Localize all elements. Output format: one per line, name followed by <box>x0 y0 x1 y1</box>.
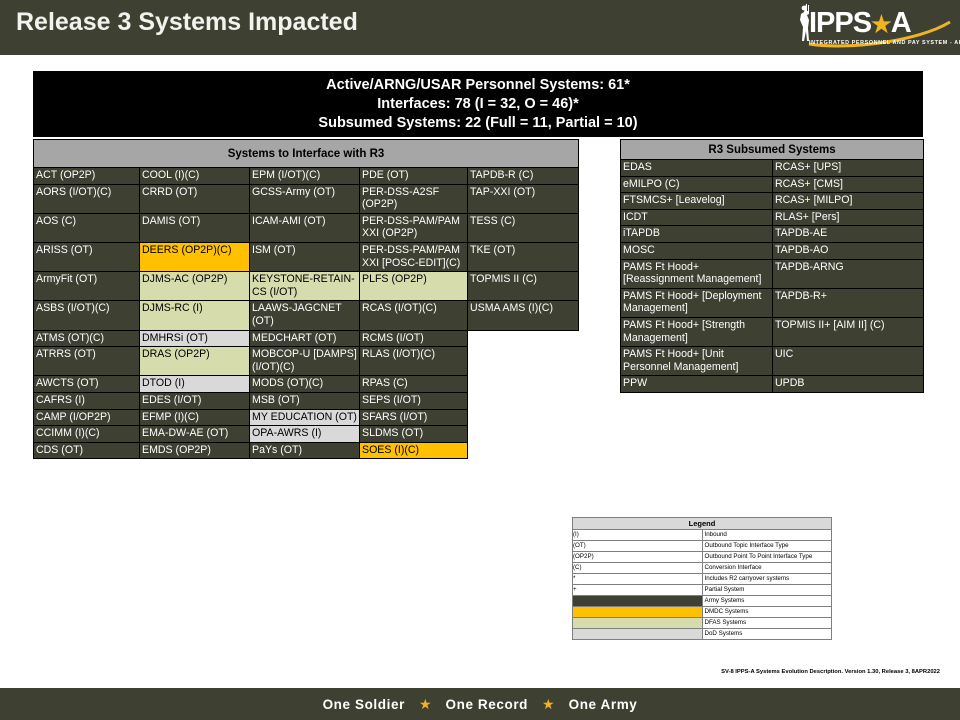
legend-description: Includes R2 carryover systems <box>702 574 832 585</box>
table-cell-system: PER-DSS-A2SF (OP2P) <box>360 184 468 213</box>
summary-line-1: Active/ARNG/USAR Personnel Systems: 61* <box>326 76 630 95</box>
table-row: AWCTS (OT)DTOD (I)MODS (OT)(C)RPAS (C) <box>34 376 579 393</box>
table-cell-system: LAAWS-JAGCNET (OT) <box>250 301 360 330</box>
table-row: EDASRCAS+ [UPS] <box>621 160 924 177</box>
legend-key: (OP2P) <box>573 552 703 563</box>
table-cell-empty <box>468 426 579 443</box>
table-cell-system: AOS (C) <box>34 213 140 242</box>
summary-line-2: Interfaces: 78 (I = 32, O = 46)* <box>377 95 579 114</box>
table-row: CAFRS (I)EDES (I/OT)MSB (OT)SEPS (I/OT) <box>34 392 579 409</box>
table-row: ATRRS (OT)DRAS (OP2P)MOBCOP-U [DAMPS] (I… <box>34 347 579 376</box>
table-cell-subsumed-system: TAPDB-AE <box>773 226 924 243</box>
table-cell-system: COOL (I)(C) <box>140 168 250 185</box>
legend-description: Outbound Topic Interface Type <box>702 541 832 552</box>
table-cell-subsumed-system: UPDB <box>773 376 924 393</box>
ipps-a-logo: IPPS★A INTEGRATED PERSONNEL AND PAY SYST… <box>787 4 952 52</box>
table-row: ICDTRLAS+ [Pers] <box>621 209 924 226</box>
table-cell-system: AORS (I/OT)(C) <box>34 184 140 213</box>
legend-description: DoD Systems <box>702 629 832 640</box>
table-cell-empty <box>468 409 579 426</box>
table-row: PAMS Ft Hood+ [Deployment Management]TAP… <box>621 288 924 317</box>
legend-row: *Includes R2 carryover systems <box>573 574 832 585</box>
table-row: ARISS (OT)DEERS (OP2P)(C)ISM (OT)PER-DSS… <box>34 242 579 271</box>
star-icon: ★ <box>419 696 432 713</box>
table-cell-system: PLFS (OP2P) <box>360 272 468 301</box>
table-cell-system: MEDCHART (OT) <box>250 330 360 347</box>
legend-row: DMDC Systems <box>573 607 832 618</box>
table-cell-system: SEPS (I/OT) <box>360 392 468 409</box>
table-cell-subsumed-system: TAPDB-ARNG <box>773 259 924 288</box>
table-cell-system: SOES (I)(C) <box>360 442 468 459</box>
star-icon: ★ <box>542 696 555 713</box>
logo-star-icon: ★ <box>871 11 891 37</box>
table-cell-subsumed-system: TAPDB-AO <box>773 242 924 259</box>
summary-line-3: Subsumed Systems: 22 (Full = 11, Partial… <box>318 114 637 133</box>
table-row: PAMS Ft Hood+ [Reassignment Management]T… <box>621 259 924 288</box>
legend-row: +Partial System <box>573 585 832 596</box>
right-table-heading: R3 Subsumed Systems <box>621 140 924 160</box>
table-cell-system: ArmyFit (OT) <box>34 272 140 301</box>
table-row: CCIMM (I)(C)EMA-DW-AE (OT)OPA-AWRS (I)SL… <box>34 426 579 443</box>
table-cell-system: EPM (I/OT)(C) <box>250 168 360 185</box>
legend-key: (OT) <box>573 541 703 552</box>
legend-header-row: Legend <box>573 518 832 530</box>
table-row: FTSMCS+ [Leavelog]RCAS+ [MILPO] <box>621 193 924 210</box>
systems-to-interface-table: Systems to Interface with R3 ACT (OP2P)C… <box>33 139 579 459</box>
table-cell-subsumed-system: PAMS Ft Hood+ [Deployment Management] <box>621 288 773 317</box>
table-cell-system: EFMP (I)(C) <box>140 409 250 426</box>
table-row: MOSCTAPDB-AO <box>621 242 924 259</box>
table-cell-system: MSB (OT) <box>250 392 360 409</box>
table-cell-system: ATRRS (OT) <box>34 347 140 376</box>
legend-key: (I) <box>573 530 703 541</box>
table-cell-subsumed-system: RCAS+ [MILPO] <box>773 193 924 210</box>
table-cell-system: CCIMM (I)(C) <box>34 426 140 443</box>
legend-key: (C) <box>573 563 703 574</box>
table-cell-subsumed-system: UIC <box>773 347 924 376</box>
table-cell-subsumed-system: PPW <box>621 376 773 393</box>
table-row: CDS (OT)EMDS (OP2P)PaYs (OT)SOES (I)(C) <box>34 442 579 459</box>
table-cell-system: DAMIS (OT) <box>140 213 250 242</box>
table-cell-system: SLDMS (OT) <box>360 426 468 443</box>
table-cell-system: ATMS (OT)(C) <box>34 330 140 347</box>
table-cell-subsumed-system: RLAS+ [Pers] <box>773 209 924 226</box>
table-cell-system: DRAS (OP2P) <box>140 347 250 376</box>
table-cell-system: ISM (OT) <box>250 242 360 271</box>
table-row: ACT (OP2P)COOL (I)(C)EPM (I/OT)(C)PDE (O… <box>34 168 579 185</box>
table-cell-subsumed-system: iTAPDB <box>621 226 773 243</box>
table-cell-system: DJMS-AC (OP2P) <box>140 272 250 301</box>
table-header-row: Systems to Interface with R3 <box>34 140 579 168</box>
table-row: PAMS Ft Hood+ [Strength Management]TOPMI… <box>621 317 924 346</box>
table-cell-system: TAPDB-R (C) <box>468 168 579 185</box>
table-row: PPWUPDB <box>621 376 924 393</box>
legend-description: Army Systems <box>702 596 832 607</box>
left-table-heading: Systems to Interface with R3 <box>34 140 579 168</box>
table-cell-system: TESS (C) <box>468 213 579 242</box>
legend-title: Legend <box>573 518 832 530</box>
legend-key: + <box>573 585 703 596</box>
motto-one-army: One Army <box>569 697 638 712</box>
table-cell-subsumed-system: PAMS Ft Hood+ [Unit Personnel Management… <box>621 347 773 376</box>
table-row: iTAPDBTAPDB-AE <box>621 226 924 243</box>
table-cell-system: TOPMIS II (C) <box>468 272 579 301</box>
table-cell-subsumed-system: PAMS Ft Hood+ [Reassignment Management] <box>621 259 773 288</box>
table-cell-empty <box>468 347 579 376</box>
table-cell-system: AWCTS (OT) <box>34 376 140 393</box>
legend-row: Army Systems <box>573 596 832 607</box>
table-row: AORS (I/OT)(C)CRRD (OT)GCSS-Army (OT)PER… <box>34 184 579 213</box>
legend-row: DoD Systems <box>573 629 832 640</box>
logo-tagline: INTEGRATED PERSONNEL AND PAY SYSTEM - AR… <box>809 40 960 46</box>
table-cell-system: PaYs (OT) <box>250 442 360 459</box>
table-row: CAMP (I/OP2P)EFMP (I)(C)MY EDUCATION (OT… <box>34 409 579 426</box>
legend-row: (OP2P)Outbound Point To Point Interface … <box>573 552 832 563</box>
legend-description: DMDC Systems <box>702 607 832 618</box>
table-cell-system: RCAS (I/OT)(C) <box>360 301 468 330</box>
legend-description: Inbound <box>702 530 832 541</box>
legend-row: DFAS Systems <box>573 618 832 629</box>
table-cell-system: PDE (OT) <box>360 168 468 185</box>
legend-description: DFAS Systems <box>702 618 832 629</box>
table-row: eMILPO (C)RCAS+ [CMS] <box>621 176 924 193</box>
table-cell-system: RLAS (I/OT)(C) <box>360 347 468 376</box>
table-cell-empty <box>468 330 579 347</box>
table-cell-system: ICAM-AMI (OT) <box>250 213 360 242</box>
table-cell-system: DEERS (OP2P)(C) <box>140 242 250 271</box>
table-cell-system: CAFRS (I) <box>34 392 140 409</box>
table-cell-system: TAP-XXI (OT) <box>468 184 579 213</box>
table-cell-subsumed-system: EDAS <box>621 160 773 177</box>
bottom-banner: One Soldier ★ One Record ★ One Army <box>0 688 960 720</box>
table-cell-subsumed-system: RCAS+ [CMS] <box>773 176 924 193</box>
table-cell-system: CDS (OT) <box>34 442 140 459</box>
footnote: SV-8 IPPS-A Systems Evolution Descriptio… <box>520 669 940 675</box>
r3-subsumed-systems-table: R3 Subsumed Systems EDASRCAS+ [UPS]eMILP… <box>620 139 924 393</box>
table-cell-system: RCMS (I/OT) <box>360 330 468 347</box>
legend-color-swatch <box>573 596 703 607</box>
table-cell-system: CAMP (I/OP2P) <box>34 409 140 426</box>
table-cell-system: PER-DSS-PAM/PAM XXI [POSC-EDIT](C) <box>360 242 468 271</box>
table-row: ATMS (OT)(C)DMHRSi (OT)MEDCHART (OT)RCMS… <box>34 330 579 347</box>
table-cell-system: PER-DSS-PAM/PAM XXI (OP2P) <box>360 213 468 242</box>
table-row: PAMS Ft Hood+ [Unit Personnel Management… <box>621 347 924 376</box>
summary-header: Active/ARNG/USAR Personnel Systems: 61* … <box>33 71 923 137</box>
table-cell-system: SFARS (I/OT) <box>360 409 468 426</box>
table-cell-subsumed-system: TOPMIS II+ [AIM II] (C) <box>773 317 924 346</box>
top-banner: Release 3 Systems Impacted IPPS★A INTEGR… <box>0 0 960 55</box>
legend-row: (OT)Outbound Topic Interface Type <box>573 541 832 552</box>
table-cell-system: USMA AMS (I)(C) <box>468 301 579 330</box>
table-cell-subsumed-system: RCAS+ [UPS] <box>773 160 924 177</box>
legend-color-swatch <box>573 629 703 640</box>
motto-one-soldier: One Soldier <box>323 697 405 712</box>
page-title: Release 3 Systems Impacted <box>16 8 358 37</box>
table-cell-system: EMDS (OP2P) <box>140 442 250 459</box>
legend-description: Outbound Point To Point Interface Type <box>702 552 832 563</box>
table-cell-system: GCSS-Army (OT) <box>250 184 360 213</box>
table-cell-system: TKE (OT) <box>468 242 579 271</box>
table-row: AOS (C)DAMIS (OT)ICAM-AMI (OT)PER-DSS-PA… <box>34 213 579 242</box>
table-cell-system: EDES (I/OT) <box>140 392 250 409</box>
table-cell-empty <box>468 376 579 393</box>
table-cell-subsumed-system: PAMS Ft Hood+ [Strength Management] <box>621 317 773 346</box>
logo-brand: IPPS <box>809 7 871 39</box>
table-cell-system: DTOD (I) <box>140 376 250 393</box>
legend-color-swatch <box>573 607 703 618</box>
table-cell-empty <box>468 442 579 459</box>
table-cell-system: ASBS (I/OT)(C) <box>34 301 140 330</box>
legend-key: * <box>573 574 703 585</box>
legend-description: Conversion Interface <box>702 563 832 574</box>
table-cell-subsumed-system: TAPDB-R+ <box>773 288 924 317</box>
table-cell-system: OPA-AWRS (I) <box>250 426 360 443</box>
table-row: ArmyFit (OT)DJMS-AC (OP2P)KEYSTONE-RETAI… <box>34 272 579 301</box>
legend-color-swatch <box>573 618 703 629</box>
legend-description: Partial System <box>702 585 832 596</box>
table-cell-subsumed-system: FTSMCS+ [Leavelog] <box>621 193 773 210</box>
motto-one-record: One Record <box>446 697 529 712</box>
table-cell-system: MOBCOP-U [DAMPS] (I/OT)(C) <box>250 347 360 376</box>
table-cell-system: ACT (OP2P) <box>34 168 140 185</box>
table-cell-system: RPAS (C) <box>360 376 468 393</box>
legend-row: (C)Conversion Interface <box>573 563 832 574</box>
table-header-row: R3 Subsumed Systems <box>621 140 924 160</box>
table-cell-empty <box>468 392 579 409</box>
legend-table: Legend (I)Inbound(OT)Outbound Topic Inte… <box>572 517 832 640</box>
table-cell-system: ARISS (OT) <box>34 242 140 271</box>
table-row: ASBS (I/OT)(C)DJMS-RC (I)LAAWS-JAGCNET (… <box>34 301 579 330</box>
table-cell-system: MODS (OT)(C) <box>250 376 360 393</box>
table-cell-subsumed-system: ICDT <box>621 209 773 226</box>
table-cell-system: DMHRSi (OT) <box>140 330 250 347</box>
logo-wordmark: IPPS★A <box>809 7 911 40</box>
table-cell-subsumed-system: eMILPO (C) <box>621 176 773 193</box>
table-cell-system: MY EDUCATION (OT) <box>250 409 360 426</box>
table-cell-system: CRRD (OT) <box>140 184 250 213</box>
table-cell-system: KEYSTONE-RETAIN-CS (I/OT) <box>250 272 360 301</box>
table-cell-system: DJMS-RC (I) <box>140 301 250 330</box>
table-cell-system: EMA-DW-AE (OT) <box>140 426 250 443</box>
logo-suffix: A <box>891 7 911 39</box>
legend-row: (I)Inbound <box>573 530 832 541</box>
table-cell-subsumed-system: MOSC <box>621 242 773 259</box>
